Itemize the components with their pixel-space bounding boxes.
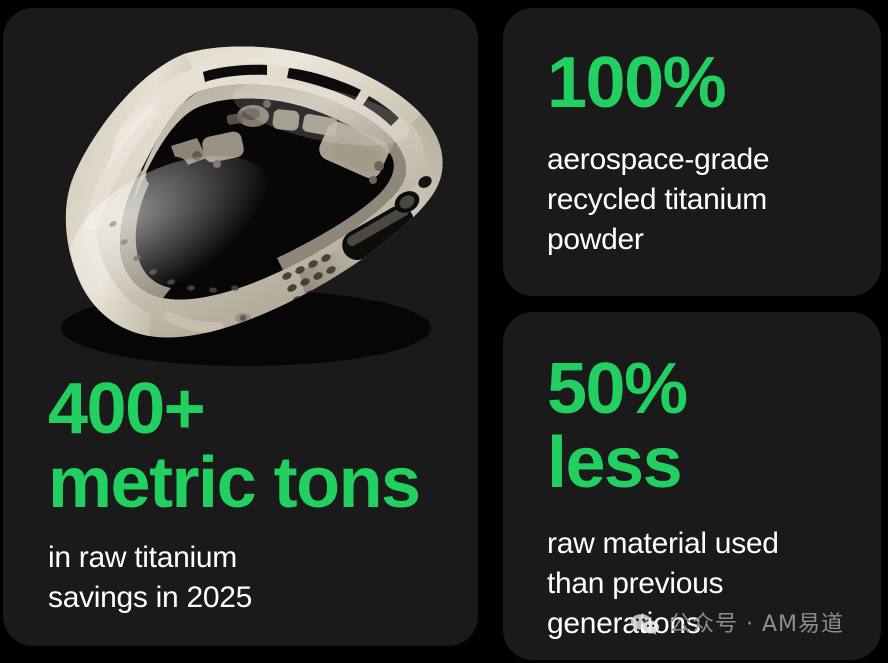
recycled-powder-stat-number: 100%: [547, 46, 863, 120]
material-reduction-stat-number: 50% less: [547, 352, 867, 500]
bottom-right-text-block: 50% less raw material used than previous…: [547, 352, 867, 644]
infographic-board: 400+ metric tons in raw titanium savings…: [0, 0, 888, 663]
recycled-powder-stat-body: aerospace-grade recycled titanium powder: [547, 140, 863, 260]
hero-stat-number: 400+ metric tons: [48, 372, 462, 520]
hero-stat-body: in raw titanium savings in 2025: [48, 538, 462, 618]
hero-stat-card: 400+ metric tons in raw titanium savings…: [3, 8, 478, 646]
watch-case-body: [46, 47, 443, 338]
top-right-text-block: 100% aerospace-grade recycled titanium p…: [547, 46, 863, 260]
hero-stat-text-block: 400+ metric tons in raw titanium savings…: [48, 372, 462, 618]
titanium-watch-case-illustration: [21, 18, 461, 378]
recycled-powder-stat-card: 100% aerospace-grade recycled titanium p…: [503, 8, 881, 296]
material-reduction-stat-card: 50% less raw material used than previous…: [503, 312, 881, 660]
material-reduction-stat-body: raw material used than previous generati…: [547, 524, 867, 644]
watch-case-image: [3, 8, 478, 388]
